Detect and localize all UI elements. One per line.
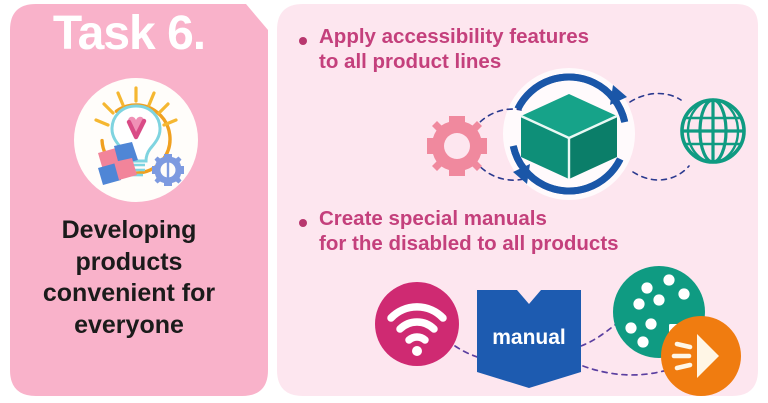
accessible-manual-illustration: manual: [359, 262, 749, 396]
product-lifecycle-illustration: [417, 66, 747, 206]
lightbulb-innovation-badge-icon: [72, 76, 200, 204]
bullet-special-manuals-text: Create special manuals for the disabled …: [319, 206, 619, 257]
gear-icon: [427, 116, 487, 176]
bullet-special-manuals: Create special manuals for the disabled …: [299, 206, 619, 257]
wifi-icon: [375, 282, 459, 366]
right-panel: Apply accessibility features to all prod…: [277, 4, 758, 396]
page-title: Task 6.: [0, 10, 258, 58]
globe-icon: [682, 100, 744, 162]
infographic-slide: Task 6.: [0, 0, 768, 403]
left-panel-caption: Developing products convenient for every…: [14, 215, 244, 341]
bullet-dot-icon: [299, 219, 307, 227]
bullet-dot-icon: [299, 37, 307, 45]
megaphone-icon: [661, 316, 741, 396]
manual-book-icon: manual: [477, 290, 581, 388]
svg-text:manual: manual: [492, 326, 566, 349]
